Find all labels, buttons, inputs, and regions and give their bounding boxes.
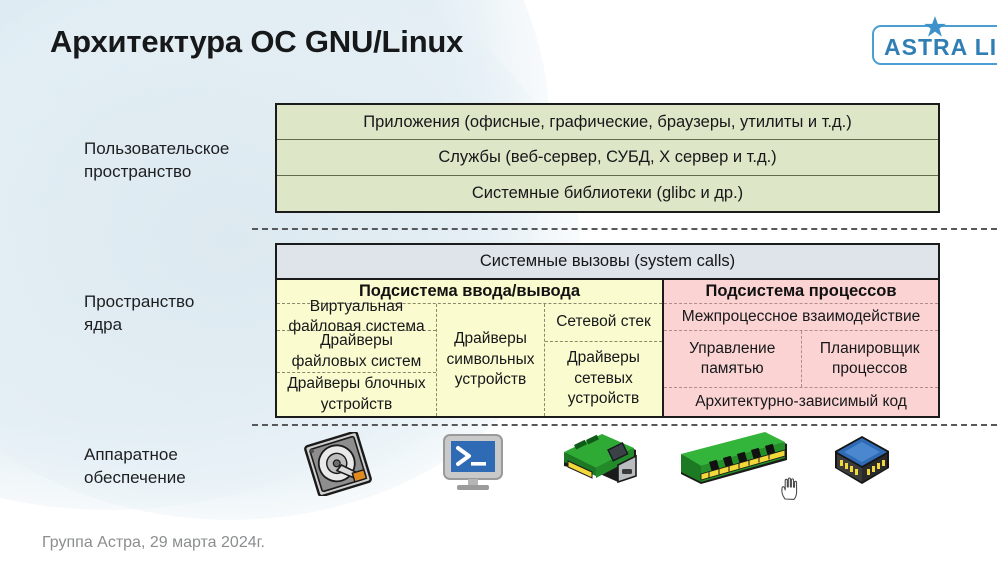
process-middle-row: Управление памятью Планировщик процессов: [664, 331, 938, 388]
system-calls-bar[interactable]: Системные вызовы (system calls): [277, 245, 938, 280]
slide-canvas: Архитектура ОС GNU/Linux ASTRA LIN Польз…: [0, 0, 997, 576]
divider-user-kernel: [252, 228, 997, 230]
hard-disk-icon[interactable]: [301, 432, 375, 496]
kernel-columns: Подсистема ввода/вывода Виртуальная файл…: [277, 280, 938, 416]
io-left-column: Виртуальная файловая система Драйверы фа…: [277, 304, 437, 416]
hardware-icon-row: [275, 432, 940, 498]
hand-cursor-icon: [779, 476, 801, 502]
io-subsystem-column: Подсистема ввода/вывода Виртуальная файл…: [277, 280, 664, 416]
memory-module-icon[interactable]: [675, 432, 791, 494]
cell-network-stack[interactable]: Сетевой стек: [545, 304, 662, 342]
cell-network-device-drivers[interactable]: Драйверы сетевых устройств: [545, 342, 662, 416]
section-label-user-space: Пользовательское пространство: [84, 138, 229, 184]
divider-kernel-hardware: [252, 424, 997, 426]
cell-process-scheduler[interactable]: Планировщик процессов: [802, 331, 939, 387]
cell-virtual-file-system[interactable]: Виртуальная файловая система: [277, 304, 436, 331]
kernel-space-group: Системные вызовы (system calls) Подсисте…: [275, 243, 940, 418]
cell-inter-process-communication[interactable]: Межпроцессное взаимодействие: [664, 304, 938, 331]
footer-text: Группа Астра, 29 марта 2024г.: [42, 534, 265, 552]
user-space-row-system-libraries[interactable]: Системные библиотеки (glibc и др.): [277, 176, 938, 211]
section-label-kernel-space: Пространство ядра: [84, 291, 194, 337]
io-subsystem-body: Виртуальная файловая система Драйверы фа…: [277, 304, 662, 416]
user-space-row-applications[interactable]: Приложения (офисные, графические, браузе…: [277, 105, 938, 140]
process-subsystem-column: Подсистема процессов Межпроцессное взаим…: [664, 280, 938, 416]
section-label-hardware: Аппаратное обеспечение: [84, 444, 186, 490]
cell-block-device-drivers[interactable]: Драйверы блочных устройств: [277, 373, 436, 416]
network-card-icon[interactable]: [556, 432, 642, 494]
cell-architecture-dependent-code[interactable]: Архитектурно-зависимый код: [664, 388, 938, 416]
user-space-row-services[interactable]: Службы (веб-сервер, СУБД, X сервер и т.д…: [277, 140, 938, 175]
cpu-chip-icon[interactable]: [831, 432, 893, 492]
astra-linux-logo: ASTRA LIN: [872, 25, 997, 65]
monitor-terminal-icon[interactable]: [440, 432, 506, 494]
cell-filesystem-drivers[interactable]: Драйверы файловых систем: [277, 331, 436, 373]
cell-character-device-drivers[interactable]: Драйверы символьных устройств: [437, 304, 545, 416]
star-icon: [922, 15, 948, 41]
io-right-column: Сетевой стек Драйверы сетевых устройств: [545, 304, 662, 416]
user-space-group: Приложения (офисные, графические, браузе…: [275, 103, 940, 213]
process-subsystem-title: Подсистема процессов: [664, 280, 938, 304]
page-title: Архитектура ОС GNU/Linux: [50, 24, 463, 60]
cell-memory-management[interactable]: Управление памятью: [664, 331, 802, 387]
process-subsystem-body: Межпроцессное взаимодействие Управление …: [664, 304, 938, 416]
